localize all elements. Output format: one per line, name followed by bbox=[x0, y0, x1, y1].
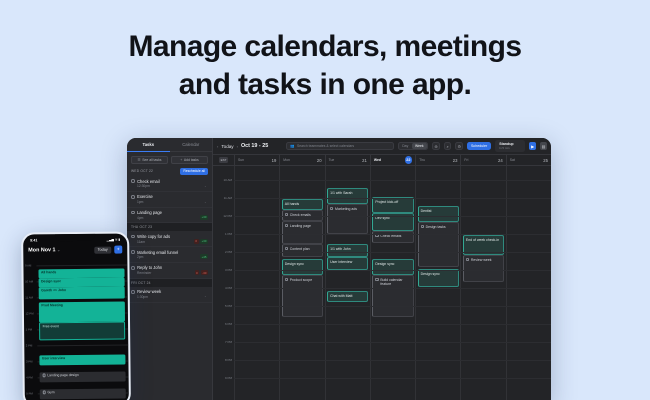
task-time: 12:30pm bbox=[137, 184, 208, 188]
day-weekday: Sun bbox=[238, 158, 244, 162]
task-checkbox-icon[interactable] bbox=[131, 235, 135, 239]
phone-event-checkbox-icon[interactable] bbox=[42, 374, 45, 377]
day-header-mon[interactable]: Mon20 bbox=[279, 155, 324, 165]
chevron-down-icon: ⌄ bbox=[57, 247, 60, 252]
day-number: 19 bbox=[272, 158, 277, 163]
calendar-icon[interactable]: ▤ bbox=[540, 142, 547, 150]
phone-event[interactable]: Gareth <> John bbox=[39, 286, 125, 299]
calendar-event[interactable]: End of week check-in bbox=[463, 235, 504, 255]
task-row[interactable]: Review week1:30pm⌄ bbox=[127, 287, 212, 303]
phone-event-title: Landing page design bbox=[47, 373, 79, 377]
today-button[interactable]: Today bbox=[221, 144, 233, 149]
task-checkbox-icon[interactable] bbox=[131, 211, 135, 215]
calendar-event[interactable]: User interview bbox=[327, 257, 368, 270]
event-checkbox-icon[interactable] bbox=[466, 258, 469, 261]
day-header-fri[interactable]: Fri24 bbox=[460, 155, 505, 165]
search-placeholder: Search teammates & select calendars bbox=[297, 144, 354, 148]
phone-event-title: All hands bbox=[41, 270, 56, 274]
view-option-day[interactable]: Day bbox=[399, 143, 411, 150]
time-label: 7 PM bbox=[225, 340, 232, 344]
event-title: Product scope bbox=[290, 278, 312, 282]
scheduler-button[interactable]: Scheduler bbox=[467, 142, 491, 151]
day-column[interactable]: Project kick-offDev syncCheck emailsDesi… bbox=[370, 166, 415, 400]
sidebar-action-buttons: ☰See all tasks+Add tasks bbox=[127, 152, 212, 167]
event-title: User interview bbox=[330, 260, 352, 264]
calendar-event[interactable]: Content plan bbox=[282, 244, 323, 257]
event-checkbox-icon[interactable] bbox=[285, 278, 288, 281]
time-label: 6 PM bbox=[225, 322, 232, 326]
task-checkbox-icon[interactable] bbox=[131, 179, 135, 183]
event-title: End of week check-in bbox=[466, 238, 499, 242]
event-title: 1/1 with Sarah bbox=[330, 191, 352, 195]
time-label: 2 PM bbox=[225, 250, 232, 254]
task-title: Reply to John bbox=[137, 265, 162, 270]
calendar-event[interactable]: Design sync bbox=[418, 269, 459, 287]
task-badge: +45 bbox=[200, 254, 208, 259]
reschedule-all-button[interactable]: Reschedule all bbox=[180, 168, 208, 175]
event-checkbox-icon[interactable] bbox=[285, 247, 288, 250]
task-badge: +30 bbox=[200, 239, 208, 244]
task-list: Check email12:30pm⌄Exercise1pm⌄Landing p… bbox=[127, 176, 212, 303]
phone-calendar-grid[interactable]: 9 AM10 AM11 AM12 PM1 PM2 PM3 PM4 PM5 PMA… bbox=[23, 256, 129, 400]
task-checkbox-icon[interactable] bbox=[131, 195, 135, 199]
time-label: 11 AM bbox=[224, 196, 232, 200]
event-title: Chat with Matt bbox=[330, 294, 352, 298]
task-title: Landing page bbox=[137, 210, 162, 215]
event-title: 1/1 with John bbox=[330, 247, 351, 251]
status-time: 9:41 bbox=[30, 238, 37, 242]
event-title: Check emails bbox=[380, 234, 401, 238]
task-time: 2pm bbox=[137, 255, 208, 259]
phone-add-button[interactable]: + bbox=[114, 246, 122, 254]
calendar-event[interactable]: Check emails bbox=[372, 231, 413, 243]
event-checkbox-icon[interactable] bbox=[375, 278, 378, 281]
calendar-event[interactable]: Dentist bbox=[418, 206, 459, 222]
time-gutter: 10 AM11 AM12 PM1 PM2 PM3 PM4 PM5 PM6 PM7… bbox=[213, 166, 234, 400]
phone-date-text: Mon Nov 1 bbox=[28, 247, 55, 253]
view-toggle[interactable]: DayWeek bbox=[398, 142, 428, 151]
task-badge: 0 bbox=[194, 239, 199, 244]
time-label: 9 PM bbox=[225, 376, 232, 380]
sidebar-tab-tasks[interactable]: Tasks bbox=[127, 138, 170, 152]
task-title: Marketing email funnel bbox=[137, 250, 178, 255]
day-header-tue[interactable]: Tue21 bbox=[325, 155, 370, 165]
event-title: Check emails bbox=[290, 213, 311, 217]
task-group-header: THU OCT 23 bbox=[127, 223, 212, 231]
event-title: Build calendar feature bbox=[380, 278, 410, 287]
phone-time-label: 2 PM bbox=[26, 343, 33, 347]
timezone-text: EST bbox=[219, 157, 229, 163]
upcoming-meeting-card[interactable]: Standup In 5 min bbox=[495, 140, 525, 152]
time-label: 1 PM bbox=[225, 232, 232, 236]
date-nav: ‹ Today › Oct 19 - 25 bbox=[217, 143, 268, 149]
event-checkbox-icon[interactable] bbox=[421, 225, 424, 228]
event-title: Design sync bbox=[421, 272, 440, 276]
task-row[interactable]: Landing page4pm+30 bbox=[127, 208, 212, 224]
phone-event[interactable]: Prod Meeting bbox=[39, 301, 125, 322]
task-badges: +30 bbox=[200, 215, 208, 220]
chevron-right-icon[interactable]: › bbox=[237, 144, 238, 149]
page-headline: Manage calendars, meetings and tasks in … bbox=[0, 28, 650, 105]
calendar-event[interactable]: Project kick-off bbox=[372, 197, 413, 213]
event-title: Marketing ads bbox=[335, 207, 357, 211]
day-number: 22 bbox=[405, 156, 413, 164]
time-label: 10 AM bbox=[223, 178, 232, 182]
phone-event-title: Free event bbox=[43, 324, 59, 328]
calendar-grid[interactable]: 10 AM11 AM12 PM1 PM2 PM3 PM4 PM5 PM6 PM7… bbox=[213, 166, 551, 400]
day-header-sun[interactable]: Sun19 bbox=[234, 155, 279, 165]
meeting-subtitle: In 5 min bbox=[499, 146, 521, 150]
phone-header: Mon Nov 1 ⌄ Today + bbox=[23, 243, 127, 257]
task-badges: 0+30 bbox=[194, 239, 208, 244]
day-weekday: Thu bbox=[419, 158, 425, 162]
calendar-event[interactable]: Marketing ads bbox=[327, 204, 368, 234]
event-title: Design sync bbox=[285, 262, 304, 266]
button-label: See all tasks bbox=[142, 158, 161, 162]
task-badge: ⌄ bbox=[202, 183, 208, 188]
mobile-phone-mockup: 9:41 ▁▃▅ ≋ ▮ Mon Nov 1 ⌄ Today + 9 AM10 … bbox=[21, 231, 131, 400]
plus-icon: + bbox=[180, 158, 182, 162]
phone-event-title: Prod Meeting bbox=[41, 303, 63, 307]
task-row[interactable]: Marketing email funnel2pm+45 bbox=[127, 247, 212, 263]
phone-time-label: 9 AM bbox=[25, 263, 31, 267]
day-header-wed[interactable]: Wed22 bbox=[370, 155, 415, 165]
task-time: 1:30pm bbox=[137, 295, 208, 299]
headline-line-1: Manage calendars, meetings bbox=[129, 30, 522, 63]
time-label: 8 PM bbox=[225, 358, 232, 362]
event-checkbox-icon[interactable] bbox=[285, 213, 288, 216]
day-column[interactable]: End of week check-inReview week bbox=[460, 166, 505, 400]
phone-event[interactable]: Landing page design bbox=[40, 371, 126, 382]
settings-icon[interactable]: ⚙ bbox=[455, 142, 463, 151]
phone-event-title: User interview bbox=[42, 356, 65, 360]
tasks-sidebar: TasksCalendar ☰See all tasks+Add tasks W… bbox=[127, 138, 213, 400]
day-weekday: Mon bbox=[283, 158, 290, 162]
calendar-event[interactable]: All hands bbox=[282, 199, 323, 210]
day-header-sat[interactable]: Sat25 bbox=[506, 155, 551, 165]
sidebar-tab-calendar[interactable]: Calendar bbox=[170, 138, 213, 152]
task-checkbox-icon[interactable] bbox=[131, 250, 135, 254]
phone-event[interactable]: Gym bbox=[40, 388, 126, 399]
task-badges: ⌄ bbox=[202, 199, 208, 204]
phone-event[interactable]: User interview bbox=[39, 354, 125, 365]
task-badge: +30 bbox=[200, 215, 208, 220]
search-teammates-input[interactable]: 👥 Search teammates & select calendars bbox=[286, 142, 394, 151]
calendar-event[interactable]: 1/1 with John bbox=[327, 244, 368, 257]
task-badge: ⌄ bbox=[202, 199, 208, 204]
people-icon: 👥 bbox=[290, 144, 294, 148]
task-checkbox-icon[interactable] bbox=[131, 290, 135, 294]
task-title: Check email bbox=[137, 179, 160, 184]
phone-event-title: Design sync bbox=[41, 279, 61, 283]
status-indicators-icon: ▁▃▅ ≋ ▮ bbox=[107, 238, 121, 242]
calendar-event[interactable]: Dev sync bbox=[372, 213, 413, 231]
phone-event[interactable]: Free event bbox=[39, 321, 125, 340]
calendar-event[interactable]: Design sync bbox=[372, 259, 413, 275]
task-badge: -30 bbox=[201, 270, 208, 275]
day-column[interactable]: DentistDesign tasksDesign sync bbox=[415, 166, 460, 400]
task-title: Review week bbox=[137, 289, 161, 294]
see-all-tasks-button[interactable]: ☰See all tasks bbox=[131, 156, 168, 164]
day-weekday: Tue bbox=[329, 158, 335, 162]
event-title: Design sync bbox=[375, 262, 394, 266]
day-header-thu[interactable]: Thu23 bbox=[415, 155, 460, 165]
sidebar-date-row: WED OCT 22 Reschedule all bbox=[127, 167, 212, 176]
task-time: 4pm bbox=[137, 216, 208, 220]
event-title: Review week bbox=[471, 258, 492, 262]
phone-grid-line bbox=[37, 344, 128, 346]
day-weekday: Sat bbox=[510, 158, 515, 162]
add-tasks-button[interactable]: +Add tasks bbox=[171, 156, 208, 164]
calendar-event[interactable]: Product scope bbox=[282, 275, 323, 317]
phone-date-label[interactable]: Mon Nov 1 ⌄ bbox=[28, 247, 60, 253]
search-icon[interactable]: ⌕ bbox=[444, 142, 452, 151]
list-icon: ☰ bbox=[138, 158, 141, 162]
task-row[interactable]: Exercise1pm⌄ bbox=[127, 192, 212, 208]
day-column[interactable] bbox=[506, 166, 551, 400]
day-number: 20 bbox=[317, 158, 322, 163]
day-number: 24 bbox=[498, 158, 503, 163]
sidebar-tabs: TasksCalendar bbox=[127, 138, 212, 152]
task-checkbox-icon[interactable] bbox=[131, 266, 135, 270]
phone-event-checkbox-icon[interactable] bbox=[42, 391, 45, 394]
calendar-event[interactable]: Landing page bbox=[282, 221, 323, 244]
phone-time-label: 10 AM bbox=[25, 279, 33, 283]
event-title: Design tasks bbox=[426, 225, 446, 229]
phone-time-label: 4 PM bbox=[26, 375, 33, 379]
event-title: Project kick-off bbox=[375, 200, 398, 204]
chevron-left-icon[interactable]: ‹ bbox=[217, 144, 218, 149]
calendar-event[interactable]: Check emails bbox=[282, 210, 323, 221]
date-range-label: Oct 19 - 25 bbox=[241, 143, 268, 149]
day-column[interactable]: 1/1 with SarahMarketing ads1/1 with John… bbox=[325, 166, 370, 400]
event-title: Dev sync bbox=[375, 216, 389, 220]
video-call-icon[interactable]: ▶ bbox=[529, 142, 536, 150]
task-badge: ⌄ bbox=[202, 294, 208, 299]
task-title: Write copy for ads bbox=[137, 234, 170, 239]
phone-event-title: Gareth <> John bbox=[41, 288, 66, 292]
phone-event-title: Gym bbox=[47, 390, 54, 394]
task-row[interactable]: Check email12:30pm⌄ bbox=[127, 176, 212, 192]
calendar-toolbar: ‹ Today › Oct 19 - 25 👥 Search teammates… bbox=[213, 138, 551, 155]
day-column[interactable]: All handsCheck emailsLanding pageContent… bbox=[279, 166, 324, 400]
day-weekday: Wed bbox=[374, 158, 381, 162]
phone-time-label: 3 PM bbox=[26, 359, 33, 363]
time-label: 4 PM bbox=[225, 286, 232, 290]
event-title: Content plan bbox=[290, 247, 310, 251]
task-badges: ⌄ bbox=[202, 183, 208, 188]
view-option-week[interactable]: Week bbox=[412, 143, 427, 148]
event-title: All hands bbox=[285, 202, 299, 206]
calendar-event[interactable]: Build calendar feature bbox=[372, 275, 413, 317]
task-group-header: FRI OCT 24 bbox=[127, 279, 212, 287]
event-checkbox-icon[interactable] bbox=[285, 224, 288, 227]
task-badges: 0-30 bbox=[195, 270, 208, 275]
event-checkbox-icon[interactable] bbox=[330, 207, 333, 210]
task-title: Exercise bbox=[137, 194, 153, 199]
task-badge: 0 bbox=[195, 270, 200, 275]
time-label: 12 PM bbox=[223, 214, 232, 218]
timezone-label: EST bbox=[213, 155, 234, 165]
desktop-app-window: TasksCalendar ☰See all tasks+Add tasks W… bbox=[127, 138, 551, 400]
phone-grid-line bbox=[36, 264, 127, 266]
day-weekday: Fri bbox=[464, 158, 468, 162]
day-number: 23 bbox=[453, 158, 458, 163]
sidebar-date-label: WED OCT 22 bbox=[131, 169, 153, 173]
phone-time-label: 12 PM bbox=[25, 311, 33, 315]
event-checkbox-icon[interactable] bbox=[375, 234, 378, 237]
task-time: 1pm bbox=[137, 200, 208, 204]
calendar-event[interactable]: Design sync bbox=[282, 259, 323, 275]
time-label: 5 PM bbox=[225, 304, 232, 308]
person-add-icon[interactable]: ⊕ bbox=[432, 142, 440, 151]
day-number: 21 bbox=[362, 158, 367, 163]
calendar-event[interactable]: 1/1 with Sarah bbox=[327, 188, 368, 204]
task-badges: ⌄ bbox=[202, 294, 208, 299]
calendar-event[interactable]: Review week bbox=[463, 255, 504, 282]
phone-today-button[interactable]: Today bbox=[94, 246, 111, 253]
calendar-panel: ‹ Today › Oct 19 - 25 👥 Search teammates… bbox=[213, 138, 551, 400]
day-number: 25 bbox=[543, 158, 548, 163]
calendar-event[interactable]: Design tasks bbox=[418, 222, 459, 267]
event-title: Landing page bbox=[290, 224, 311, 228]
event-title: Dentist bbox=[421, 209, 432, 213]
calendar-day-header: EST Sun19Mon20Tue21Wed22Thu23Fri24Sat25 bbox=[213, 155, 551, 166]
task-badges: +45 bbox=[200, 254, 208, 259]
phone-time-label: 11 AM bbox=[25, 295, 33, 299]
day-columns: All handsCheck emailsLanding pageContent… bbox=[234, 166, 551, 400]
task-row[interactable]: Write copy for ads11am0+30 bbox=[127, 231, 212, 247]
phone-time-label: 5 PM bbox=[26, 391, 33, 395]
day-column[interactable] bbox=[234, 166, 279, 400]
calendar-event[interactable]: Chat with Matt bbox=[327, 291, 368, 302]
button-label: Add tasks bbox=[184, 158, 199, 162]
task-row[interactable]: Reply to JohnReminder0-30 bbox=[127, 263, 212, 279]
phone-time-label: 1 PM bbox=[26, 327, 33, 331]
headline-line-2: and tasks in one app. bbox=[0, 66, 650, 104]
phone-notch bbox=[55, 234, 95, 241]
time-label: 3 PM bbox=[225, 268, 232, 272]
